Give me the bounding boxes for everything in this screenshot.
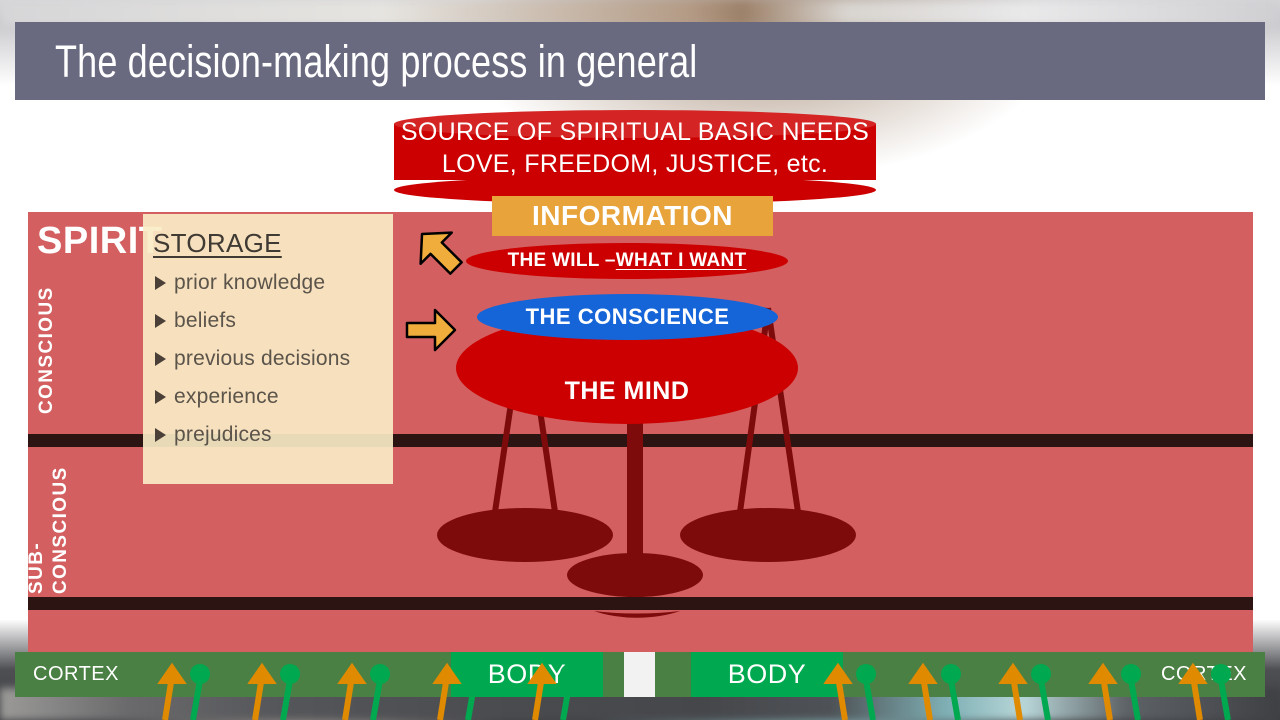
list-item-label: beliefs (174, 309, 236, 333)
list-item: beliefs (155, 309, 393, 333)
the-will-ellipse: THE WILL – WHAT I WANT (466, 243, 788, 279)
storage-heading: STORAGE (143, 214, 393, 259)
information-box: INFORMATION (492, 196, 773, 236)
scale-pan-left (437, 508, 613, 562)
slide-title-bar: The decision-making process in general (15, 22, 1265, 100)
green-output-stem (563, 680, 570, 720)
green-output-dot-icon (1121, 664, 1141, 684)
cylinder-label-line2: LOVE, FREEDOM, JUSTICE, etc. (394, 148, 876, 180)
slide-canvas: The decision-making process in general S… (0, 0, 1280, 720)
scale-pan-right (680, 508, 856, 562)
green-output-stem (373, 680, 380, 720)
green-output-stem (1221, 680, 1228, 720)
bullet-triangle-icon (155, 314, 166, 328)
callout-arrow-right-icon (405, 307, 457, 353)
bullet-triangle-icon (155, 276, 166, 290)
green-output-dot-icon (465, 664, 485, 684)
cylinder-label-line1: SOURCE OF SPIRITUAL BASIC NEEDS (394, 116, 876, 148)
green-output-stem (1131, 680, 1138, 720)
scale-base-ellipse (567, 553, 703, 597)
page-title: The decision-making process in general (55, 39, 697, 84)
list-item-label: previous decisions (174, 347, 350, 371)
green-output-stem (193, 680, 200, 720)
list-item: experience (155, 385, 393, 409)
green-output-dot-icon (370, 664, 390, 684)
green-output-stem (1041, 680, 1048, 720)
bullet-triangle-icon (155, 352, 166, 366)
orange-input-arrow-icon (1094, 668, 1112, 720)
orange-input-arrow-icon (829, 668, 847, 720)
bullet-triangle-icon (155, 390, 166, 404)
conscious-label: CONSCIOUS (36, 286, 58, 414)
sensory-input-arrows (0, 640, 1280, 720)
cylinder-label: SOURCE OF SPIRITUAL BASIC NEEDS LOVE, FR… (394, 116, 876, 180)
green-output-dot-icon (1031, 664, 1051, 684)
subconscious-body-divider (28, 597, 1253, 610)
orange-input-arrow-icon (253, 668, 271, 720)
the-will-prefix: THE WILL – (508, 250, 616, 272)
green-output-dot-icon (190, 664, 210, 684)
bullet-triangle-icon (155, 428, 166, 442)
green-output-stem (283, 680, 290, 720)
orange-input-arrow-icon (1004, 668, 1022, 720)
subconscious-label-line2: CONSCIOUS (50, 466, 72, 594)
green-output-dot-icon (560, 664, 580, 684)
orange-input-arrow-icon (533, 668, 551, 720)
green-output-dot-icon (1211, 664, 1231, 684)
storage-list: prior knowledge beliefs previous decisio… (143, 271, 393, 447)
the-conscience-ellipse: THE CONSCIENCE (477, 294, 778, 340)
green-output-stem (866, 680, 873, 720)
list-item-label: prior knowledge (174, 271, 325, 295)
orange-input-arrow-icon (1184, 668, 1202, 720)
orange-input-arrow-icon (343, 668, 361, 720)
list-item-label: experience (174, 385, 279, 409)
the-will-underlined: WHAT I WANT (616, 250, 747, 272)
list-item: prejudices (155, 423, 393, 447)
subconscious-label-line1: SUB- (28, 542, 48, 594)
green-output-dot-icon (280, 664, 300, 684)
green-output-stem (468, 680, 475, 720)
source-of-spiritual-basic-needs-cylinder: SOURCE OF SPIRITUAL BASIC NEEDS LOVE, FR… (394, 110, 876, 190)
green-output-stem (951, 680, 958, 720)
scale-base-arc (594, 611, 680, 618)
orange-input-arrow-icon (163, 668, 181, 720)
orange-input-arrow-icon (914, 668, 932, 720)
green-output-dot-icon (856, 664, 876, 684)
storage-panel: STORAGE prior knowledge beliefs previous… (143, 214, 393, 484)
list-item: previous decisions (155, 347, 393, 371)
green-output-dot-icon (941, 664, 961, 684)
orange-input-arrow-icon (438, 668, 456, 720)
list-item: prior knowledge (155, 271, 393, 295)
the-mind-label: THE MIND (456, 377, 798, 406)
list-item-label: prejudices (174, 423, 272, 447)
